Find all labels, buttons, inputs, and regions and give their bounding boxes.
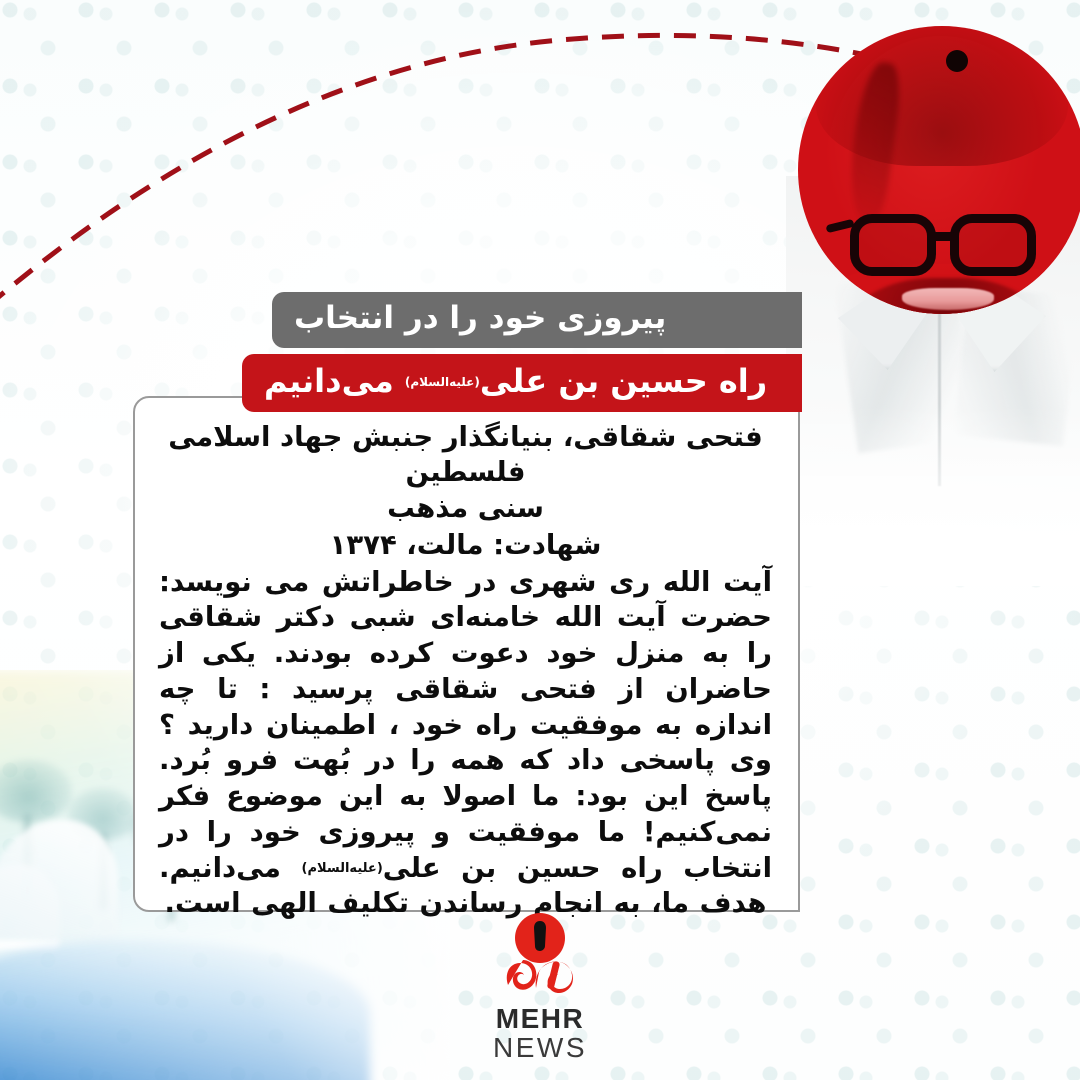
- subject-name-and-role: فتحی شقاقی، بنیانگذار جنبش جهاد اسلامی ف…: [159, 420, 772, 489]
- eyeglasses-lens-right: [950, 214, 1036, 276]
- logo-title: MEHR: [465, 1005, 615, 1033]
- subject-sect: سنی مذهب: [159, 491, 772, 526]
- logo-text: MEHR NEWS: [465, 1005, 615, 1062]
- quote-body: آیت الله ری شهری در خاطراتش می نویسد: حض…: [159, 565, 772, 923]
- mole-dot: [946, 50, 968, 72]
- quote-body-part-1: آیت الله ری شهری در خاطراتش می نویسد: حض…: [159, 566, 772, 884]
- headline: پیروزی خود را در انتخاب راه حسین بن علی(…: [242, 292, 802, 412]
- headline-honorific: (علیه‌السلام): [405, 375, 480, 389]
- logo-subtitle: NEWS: [465, 1034, 615, 1062]
- mehr-news-logo: MEHR NEWS: [465, 913, 615, 1062]
- shirt-fade: [786, 406, 1080, 586]
- headline-line-2-main: راه حسین بن علی: [480, 362, 767, 400]
- headline-line-2-tail: می‌دانیم: [264, 362, 405, 400]
- quote-honorific: (علیه‌السلام): [302, 861, 383, 876]
- portrait-circle-red-duotone: [798, 26, 1080, 314]
- mouth-smile: [902, 288, 994, 310]
- eyeglasses-lens-left: [850, 214, 936, 276]
- mehr-news-logo-mark: [488, 913, 592, 1005]
- quote-card: فتحی شقاقی، بنیانگذار جنبش جهاد اسلامی ف…: [133, 396, 800, 912]
- portrait: [786, 26, 1080, 586]
- headline-line-1: پیروزی خود را در انتخاب: [272, 292, 802, 348]
- headline-line-2: راه حسین بن علی(علیه‌السلام) می‌دانیم: [242, 354, 802, 412]
- infographic-canvas: پیروزی خود را در انتخاب راه حسین بن علی(…: [0, 0, 1080, 1080]
- eyeglasses-bridge: [932, 232, 956, 241]
- martyrdom-info: شهادت: مالت، ۱۳۷۴: [159, 528, 772, 563]
